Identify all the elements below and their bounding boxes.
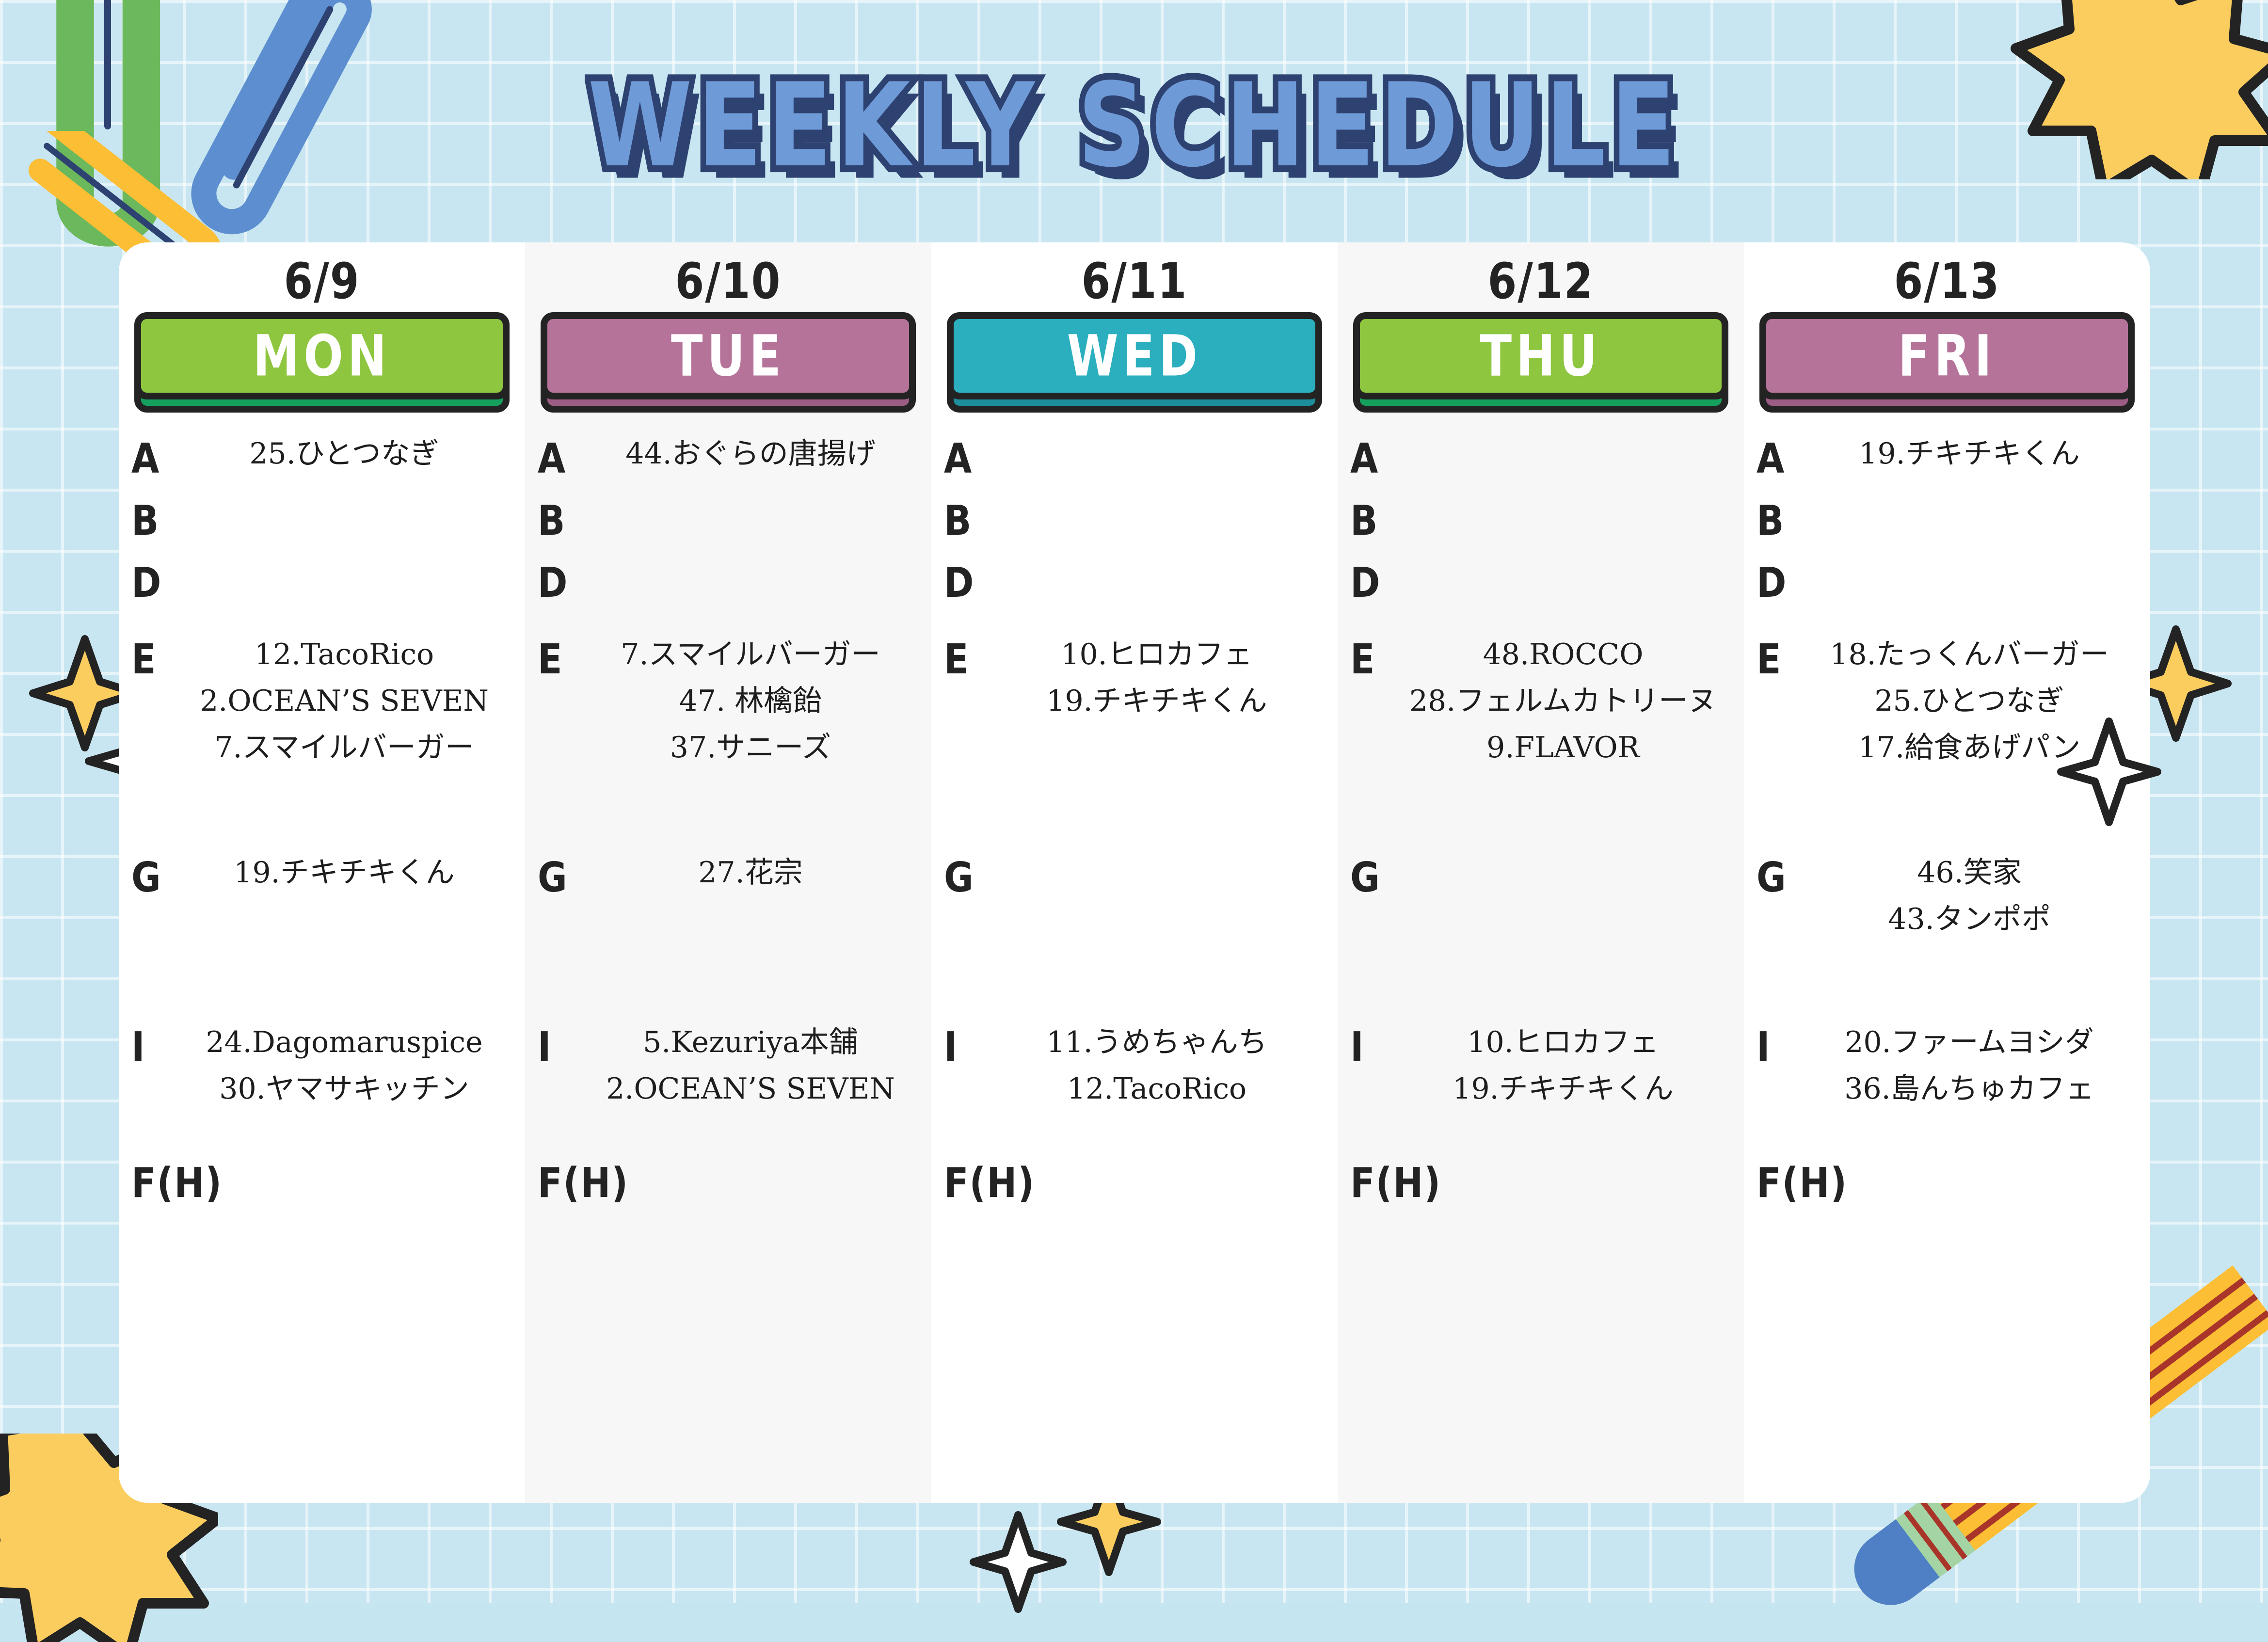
- schedule-entry[interactable]: 12.TacoRico: [989, 1073, 1325, 1105]
- row-key-label: B: [1757, 500, 1801, 543]
- row-key-label: D: [538, 562, 582, 605]
- schedule-entry[interactable]: 25.ひとつなぎ: [1801, 685, 2138, 717]
- row-key-label: E: [944, 638, 989, 682]
- schedule-row-g[interactable]: G19.チキチキくん: [131, 857, 512, 1002]
- day-header-label: THU: [1480, 322, 1602, 389]
- schedule-entry[interactable]: 5.Kezuriya本舗: [582, 1026, 919, 1058]
- schedule-rows: A44.おぐらの唐揚げBDE7.スマイルバーガー47. 林檎飴37.サニーズG2…: [538, 438, 919, 1503]
- schedule-entry[interactable]: 7.スマイルバーガー: [582, 638, 919, 670]
- row-entries: 11.うめちゃんち12.TacoRico: [989, 1026, 1325, 1105]
- schedule-entry[interactable]: 18.たっくんバーガー: [1801, 638, 2138, 670]
- schedule-row-i[interactable]: I11.うめちゃんち12.TacoRico: [944, 1026, 1325, 1143]
- schedule-row-a[interactable]: A44.おぐらの唐揚げ: [538, 438, 919, 500]
- day-column-fri: 6/13FRIA19.チキチキくんBDE18.たっくんバーガー25.ひとつなぎ1…: [1744, 242, 2150, 1503]
- date-label-mon: 6/9: [131, 257, 512, 307]
- row-key-label: F(H): [1757, 1162, 1848, 1205]
- schedule-entry[interactable]: 19.チキチキくん: [1395, 1073, 1731, 1105]
- schedule-row-i[interactable]: I10.ヒロカフェ19.チキチキくん: [1350, 1026, 1731, 1143]
- row-key-label: I: [1757, 1026, 1801, 1069]
- schedule-entry[interactable]: 2.OCEAN’S SEVEN: [582, 1073, 919, 1105]
- schedule-entry[interactable]: 19.チキチキくん: [989, 685, 1325, 717]
- schedule-entry[interactable]: 12.TacoRico: [176, 638, 512, 670]
- date-label-fri: 6/13: [1757, 257, 2138, 307]
- schedule-row-d[interactable]: D: [944, 562, 1325, 624]
- row-key-label: D: [1350, 562, 1395, 605]
- schedule-entry[interactable]: 25.ひとつなぎ: [176, 438, 512, 470]
- schedule-entry[interactable]: 46.笑家: [1801, 857, 2138, 889]
- schedule-row-a[interactable]: A25.ひとつなぎ: [131, 438, 512, 500]
- schedule-row-e[interactable]: E7.スマイルバーガー47. 林檎飴37.サニーズ: [538, 638, 919, 842]
- schedule-entry[interactable]: 47. 林檎飴: [582, 685, 919, 717]
- schedule-row-g[interactable]: G46.笑家43.タンポポ: [1757, 857, 2138, 1002]
- schedule-row-fh[interactable]: F(H): [944, 1162, 1325, 1200]
- schedule-row-d[interactable]: D: [538, 562, 919, 624]
- row-key-label: F(H): [538, 1162, 629, 1205]
- schedule-entry[interactable]: 7.スマイルバーガー: [176, 732, 512, 764]
- schedule-row-b[interactable]: B: [538, 500, 919, 562]
- row-entries: 5.Kezuriya本舗2.OCEAN’S SEVEN: [582, 1026, 919, 1105]
- schedule-entry[interactable]: 20.ファームヨシダ: [1801, 1026, 2138, 1058]
- row-entries: 48.ROCCO28.フェルムカトリーヌ9.FLAVOR: [1395, 638, 1731, 764]
- row-key-label: F(H): [1350, 1162, 1441, 1205]
- schedule-entry[interactable]: 19.チキチキくん: [1801, 438, 2138, 470]
- day-column-mon: 6/9MONA25.ひとつなぎBDE12.TacoRico2.OCEAN’S S…: [119, 242, 525, 1503]
- schedule-row-a[interactable]: A: [1350, 438, 1731, 500]
- schedule-rows: A25.ひとつなぎBDE12.TacoRico2.OCEAN’S SEVEN7.…: [131, 438, 512, 1503]
- day-header-bar: TUE: [541, 312, 916, 399]
- day-header-wed[interactable]: WED: [944, 312, 1325, 416]
- row-key-label: A: [944, 438, 989, 481]
- day-header-bar: FRI: [1759, 312, 2135, 399]
- schedule-row-b[interactable]: B: [1350, 500, 1731, 562]
- date-label-tue: 6/10: [538, 257, 919, 307]
- page-title: WEEKLY SCHEDULE: [0, 73, 2268, 178]
- row-key-label: B: [131, 500, 176, 543]
- schedule-rows: ABDE48.ROCCO28.フェルムカトリーヌ9.FLAVORGI10.ヒロカ…: [1350, 438, 1731, 1503]
- schedule-row-e[interactable]: E48.ROCCO28.フェルムカトリーヌ9.FLAVOR: [1350, 638, 1731, 842]
- date-label-thu: 6/12: [1350, 257, 1731, 307]
- schedule-row-b[interactable]: B: [944, 500, 1325, 562]
- schedule-entry[interactable]: 10.ヒロカフェ: [989, 638, 1325, 670]
- schedule-entry[interactable]: 48.ROCCO: [1395, 638, 1731, 670]
- day-header-fri[interactable]: FRI: [1757, 312, 2138, 416]
- day-header-label: TUE: [671, 322, 785, 389]
- row-key-label: E: [1350, 638, 1395, 682]
- schedule-entry[interactable]: 9.FLAVOR: [1395, 732, 1731, 764]
- row-key-label: A: [1350, 438, 1395, 481]
- schedule-row-d[interactable]: D: [1350, 562, 1731, 624]
- row-key-label: G: [538, 857, 582, 900]
- schedule-entry[interactable]: 44.おぐらの唐揚げ: [582, 438, 919, 470]
- row-key-label: A: [1757, 438, 1801, 481]
- row-entries: 7.スマイルバーガー47. 林檎飴37.サニーズ: [582, 638, 919, 764]
- schedule-rows: A19.チキチキくんBDE18.たっくんバーガー25.ひとつなぎ17.給食あげパ…: [1757, 438, 2138, 1503]
- day-header-label: WED: [1067, 322, 1202, 389]
- row-entries: 20.ファームヨシダ36.島んちゅカフェ: [1801, 1026, 2138, 1105]
- day-header-tue[interactable]: TUE: [538, 312, 919, 416]
- row-entries: 27.花宗: [582, 857, 919, 889]
- schedule-row-d[interactable]: D: [131, 562, 512, 624]
- row-key-label: I: [131, 1026, 176, 1069]
- schedule-row-g[interactable]: G: [944, 857, 1325, 1002]
- row-entries: 25.ひとつなぎ: [176, 438, 512, 470]
- schedule-entry[interactable]: 43.タンポポ: [1801, 903, 2138, 935]
- row-entries: 44.おぐらの唐揚げ: [582, 438, 919, 470]
- row-key-label: F(H): [944, 1162, 1035, 1205]
- schedule-row-d[interactable]: D: [1757, 562, 2138, 624]
- day-header-label: FRI: [1898, 322, 1996, 389]
- schedule-entry[interactable]: 10.ヒロカフェ: [1395, 1026, 1731, 1058]
- date-label-wed: 6/11: [944, 257, 1325, 307]
- row-key-label: I: [944, 1026, 989, 1069]
- schedule-row-e[interactable]: E10.ヒロカフェ19.チキチキくん: [944, 638, 1325, 842]
- row-key-label: I: [538, 1026, 582, 1069]
- day-header-bar: MON: [134, 312, 510, 399]
- schedule-row-e[interactable]: E12.TacoRico2.OCEAN’S SEVEN7.スマイルバーガー: [131, 638, 512, 842]
- schedule-row-g[interactable]: G: [1350, 857, 1731, 1002]
- day-column-tue: 6/10TUEA44.おぐらの唐揚げBDE7.スマイルバーガー47. 林檎飴37…: [525, 242, 931, 1503]
- row-entries: 19.チキチキくん: [1801, 438, 2138, 470]
- row-entries: 19.チキチキくん: [176, 857, 512, 889]
- schedule-row-i[interactable]: I24.Dagomaruspice30.ヤマサキッチン: [131, 1026, 512, 1143]
- schedule-entry[interactable]: 36.島んちゅカフェ: [1801, 1073, 2138, 1105]
- row-key-label: B: [538, 500, 582, 543]
- schedule-entry[interactable]: 11.うめちゃんち: [989, 1026, 1325, 1058]
- row-key-label: B: [944, 500, 989, 543]
- page-title-text: WEEKLY SCHEDULE: [588, 58, 1680, 193]
- row-key-label: G: [1757, 857, 1801, 900]
- schedule-entry[interactable]: 17.給食あげパン: [1801, 732, 2138, 764]
- schedule-entry[interactable]: 19.チキチキくん: [176, 857, 512, 889]
- schedule-row-fh[interactable]: F(H): [538, 1162, 919, 1200]
- schedule-row-g[interactable]: G27.花宗: [538, 857, 919, 1002]
- row-entries: 46.笑家43.タンポポ: [1801, 857, 2138, 935]
- schedule-row-i[interactable]: I5.Kezuriya本舗2.OCEAN’S SEVEN: [538, 1026, 919, 1143]
- row-entries: 10.ヒロカフェ19.チキチキくん: [1395, 1026, 1731, 1105]
- day-header-thu[interactable]: THU: [1350, 312, 1731, 416]
- schedule-entry[interactable]: 2.OCEAN’S SEVEN: [176, 685, 512, 717]
- row-key-label: E: [131, 638, 176, 682]
- row-entries: 18.たっくんバーガー25.ひとつなぎ17.給食あげパン: [1801, 638, 2138, 764]
- day-header-bar: THU: [1353, 312, 1728, 399]
- schedule-entry[interactable]: 37.サニーズ: [582, 732, 919, 764]
- schedule-entry[interactable]: 30.ヤマサキッチン: [176, 1073, 512, 1105]
- row-entries: 24.Dagomaruspice30.ヤマサキッチン: [176, 1026, 512, 1105]
- row-key-label: I: [1350, 1026, 1395, 1069]
- row-key-label: F(H): [131, 1162, 223, 1205]
- day-column-wed: 6/11WEDABDE10.ヒロカフェ19.チキチキくんGI11.うめちゃんち1…: [931, 242, 1338, 1503]
- schedule-row-e[interactable]: E18.たっくんバーガー25.ひとつなぎ17.給食あげパン: [1757, 638, 2138, 842]
- schedule-row-fh[interactable]: F(H): [1350, 1162, 1731, 1200]
- row-key-label: D: [944, 562, 989, 605]
- schedule-row-b[interactable]: B: [131, 500, 512, 562]
- row-entries: 10.ヒロカフェ19.チキチキくん: [989, 638, 1325, 717]
- day-header-label: MON: [253, 322, 391, 389]
- day-header-mon[interactable]: MON: [131, 312, 512, 416]
- schedule-row-b[interactable]: B: [1757, 500, 2138, 562]
- schedule-entry[interactable]: 27.花宗: [582, 857, 919, 889]
- row-key-label: G: [1350, 857, 1395, 900]
- schedule-row-fh[interactable]: F(H): [1757, 1162, 2138, 1200]
- row-key-label: A: [131, 438, 176, 481]
- schedule-entry[interactable]: 24.Dagomaruspice: [176, 1026, 512, 1058]
- row-key-label: D: [1757, 562, 1801, 605]
- row-key-label: G: [944, 857, 989, 900]
- row-key-label: D: [131, 562, 176, 605]
- day-column-thu: 6/12THUABDE48.ROCCO28.フェルムカトリーヌ9.FLAVORG…: [1338, 242, 1744, 1503]
- schedule-row-fh[interactable]: F(H): [131, 1162, 512, 1200]
- day-header-bar: WED: [947, 312, 1322, 399]
- schedule-row-a[interactable]: A: [944, 438, 1325, 500]
- row-key-label: G: [131, 857, 176, 900]
- row-entries: 12.TacoRico2.OCEAN’S SEVEN7.スマイルバーガー: [176, 638, 512, 764]
- schedule-card: 6/9MONA25.ひとつなぎBDE12.TacoRico2.OCEAN’S S…: [119, 242, 2150, 1503]
- schedule-row-a[interactable]: A19.チキチキくん: [1757, 438, 2138, 500]
- row-key-label: A: [538, 438, 582, 481]
- schedule-entry[interactable]: 28.フェルムカトリーヌ: [1395, 685, 1731, 717]
- schedule-row-i[interactable]: I20.ファームヨシダ36.島んちゅカフェ: [1757, 1026, 2138, 1143]
- row-key-label: B: [1350, 500, 1395, 543]
- row-key-label: E: [538, 638, 582, 682]
- schedule-rows: ABDE10.ヒロカフェ19.チキチキくんGI11.うめちゃんち12.TacoR…: [944, 438, 1325, 1503]
- row-key-label: E: [1757, 638, 1801, 682]
